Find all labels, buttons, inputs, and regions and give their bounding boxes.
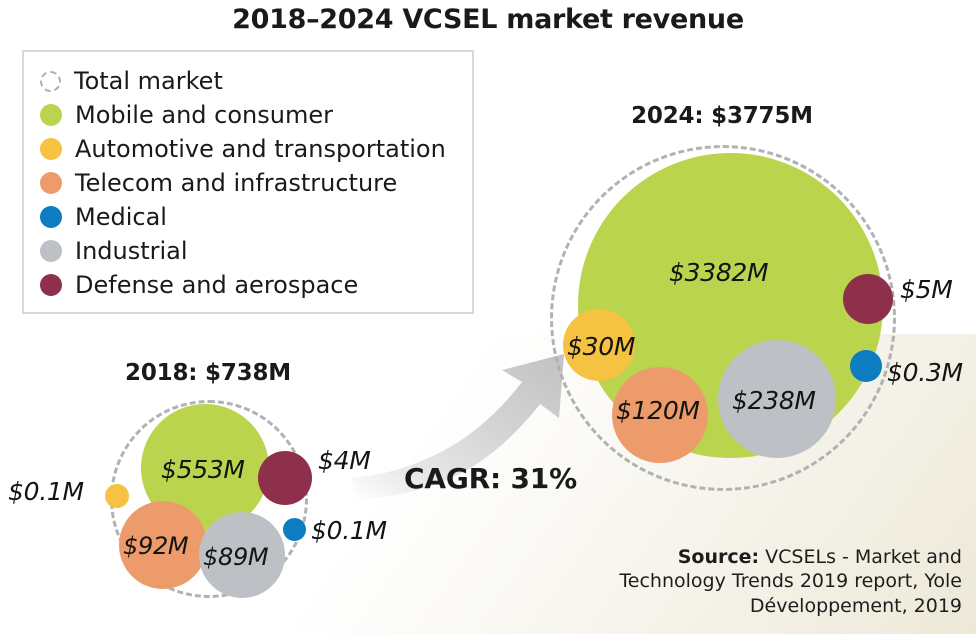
legend-label: Telecom and infrastructure xyxy=(75,171,397,195)
cluster-heading-2018: 2018: $738M xyxy=(108,360,308,386)
legend-label: Industrial xyxy=(75,239,188,263)
legend-item-total-market[interactable]: Total market xyxy=(40,64,458,98)
cagr-label: CAGR: 31% xyxy=(404,462,577,495)
legend-label: Automotive and transportation xyxy=(75,137,446,161)
legend-item-mobile-and-consumer[interactable]: Mobile and consumer xyxy=(40,98,458,132)
dashed-circle-icon xyxy=(40,71,61,92)
legend-item-medical[interactable]: Medical xyxy=(40,200,458,234)
bubble-label-2018-industrial: $89M xyxy=(203,543,268,571)
source-text: VCSELs - Market and Technology Trends 20… xyxy=(619,546,962,617)
bubble-label-2018-automotive: $0.1M xyxy=(8,477,84,506)
legend: Total market Mobile and consumer Automot… xyxy=(22,50,474,314)
bubble-2018-defense[interactable] xyxy=(258,451,312,505)
chart-canvas: 2018–2024 VCSEL market revenue Total mar… xyxy=(0,0,976,634)
circle-icon xyxy=(40,240,62,262)
page-title: 2018–2024 VCSEL market revenue xyxy=(0,4,976,35)
cluster-heading-2024: 2024: $3775M xyxy=(552,103,892,129)
bubble-2024-defense[interactable] xyxy=(843,274,893,324)
legend-label: Medical xyxy=(75,205,167,229)
legend-item-telecom-and-infrastructure[interactable]: Telecom and infrastructure xyxy=(40,166,458,200)
legend-label: Defense and aerospace xyxy=(75,273,358,297)
bubble-label-2024-mobile: $3382M xyxy=(669,258,768,287)
circle-icon xyxy=(40,138,62,160)
bubble-label-2018-medical: $0.1M xyxy=(311,516,387,545)
legend-item-industrial[interactable]: Industrial xyxy=(40,234,458,268)
bubble-label-2024-industrial: $238M xyxy=(732,386,816,415)
legend-label: Total market xyxy=(74,69,223,93)
bubble-label-2024-defense: $5M xyxy=(900,275,952,304)
bubble-label-2018-telecom: $92M xyxy=(123,532,188,560)
legend-label: Mobile and consumer xyxy=(75,103,333,127)
circle-icon xyxy=(40,104,62,126)
bubble-label-2018-mobile: $553M xyxy=(161,455,245,484)
bubble-2018-automotive[interactable] xyxy=(105,484,129,508)
bubble-2024-medical[interactable] xyxy=(850,350,882,382)
legend-item-defense-and-aerospace[interactable]: Defense and aerospace xyxy=(40,268,458,302)
bubble-label-2024-medical: $0.3M xyxy=(887,358,963,387)
source-note: Source: VCSELs - Market and Technology T… xyxy=(610,545,962,618)
bubble-label-2018-defense: $4M xyxy=(318,446,370,475)
circle-icon xyxy=(40,172,62,194)
bubble-2018-medical[interactable] xyxy=(283,518,306,541)
circle-icon xyxy=(40,274,62,296)
legend-item-automotive-and-transportation[interactable]: Automotive and transportation xyxy=(40,132,458,166)
bubble-label-2024-automotive: $30M xyxy=(567,332,635,361)
source-prefix: Source: xyxy=(678,546,759,568)
bubble-label-2024-telecom: $120M xyxy=(616,396,700,425)
circle-icon xyxy=(40,206,62,228)
